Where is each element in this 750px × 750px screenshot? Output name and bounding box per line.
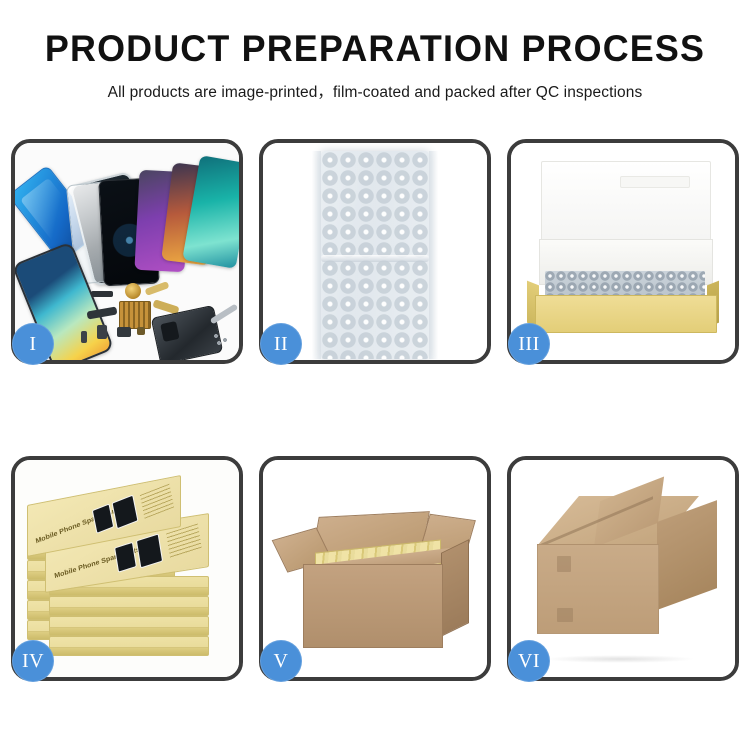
step-panel-6[interactable]: VI (507, 456, 739, 681)
stacked-box (49, 616, 209, 636)
box-screen-image (114, 542, 137, 573)
carton-front-face (303, 564, 443, 648)
stacked-box (49, 596, 209, 616)
step-2-image (263, 143, 487, 360)
page-header: PRODUCT PREPARATION PROCESS All products… (0, 0, 750, 102)
stacked-box (49, 636, 209, 656)
speaker-part-icon (117, 327, 131, 337)
box-screen-image (112, 494, 139, 529)
carton-tape-mark (557, 608, 573, 622)
phone-backplate-icon (151, 305, 224, 360)
page-title: PRODUCT PREPARATION PROCESS (11, 28, 739, 71)
carton-tape-mark (557, 556, 571, 572)
step-6-image (511, 460, 735, 677)
box-screen-image (136, 533, 163, 568)
process-steps-grid: I II III (11, 139, 739, 681)
button-part-icon (137, 327, 145, 335)
product-preparation-page: PRODUCT PREPARATION PROCESS All products… (0, 0, 750, 750)
phone-parts-illustration (15, 143, 239, 360)
screws-icon (213, 333, 231, 345)
step-4-image: Mobile Phone Spare Parts Mobile Phone Sp… (15, 460, 239, 677)
step-badge-6: VI (508, 640, 550, 682)
step-badge-1: I (12, 323, 54, 365)
sealed-carton-front (537, 544, 659, 634)
step-panel-2[interactable]: II (259, 139, 491, 364)
connector-part-icon (91, 291, 113, 297)
step-badge-4: IV (12, 640, 54, 682)
box-stack-illustration: Mobile Phone Spare Parts Mobile Phone Sp… (15, 460, 239, 677)
camera-part-icon (97, 325, 107, 339)
step-badge-2: II (260, 323, 302, 365)
chip-grid-icon (119, 301, 151, 329)
step-badge-3: III (508, 323, 550, 365)
step-panel-1[interactable]: I (11, 139, 243, 364)
step-1-image (15, 143, 239, 360)
step-panel-3[interactable]: III (507, 139, 739, 364)
step-3-image (511, 143, 735, 360)
coil-part-icon (125, 283, 141, 299)
carton-shadow (545, 655, 695, 663)
inner-box-lid-tab (620, 176, 690, 188)
inner-box-front (535, 295, 717, 333)
button-part-icon (81, 331, 87, 343)
step-panel-4[interactable]: Mobile Phone Spare Parts Mobile Phone Sp… (11, 456, 243, 681)
bubble-wrap-seam (321, 255, 429, 262)
carton-right-side (441, 539, 469, 637)
step-badge-5: V (260, 640, 302, 682)
page-subtitle: All products are image-printed，film-coat… (0, 80, 750, 102)
step-panel-5[interactable]: V (259, 456, 491, 681)
step-5-image (263, 460, 487, 677)
box-spec-lines (140, 484, 174, 519)
